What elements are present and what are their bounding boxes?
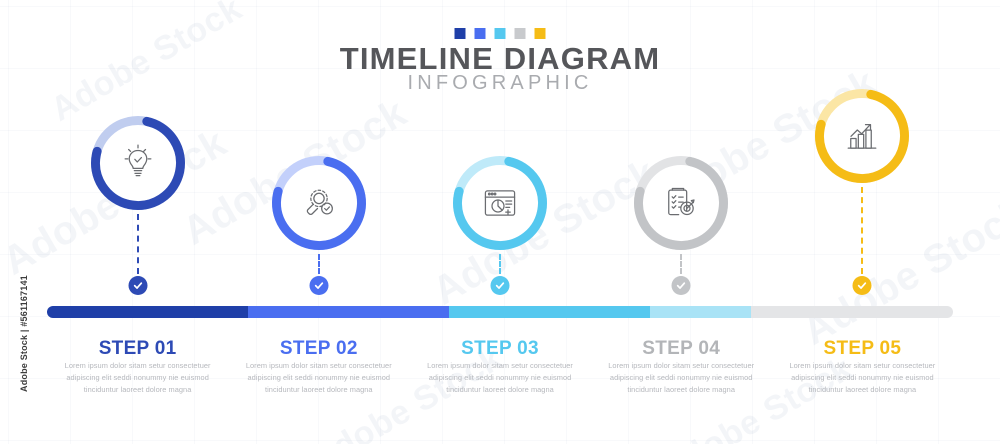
step-description-5: Lorem ipsum dolor sitam setur consectetu… bbox=[778, 360, 946, 397]
watermark-side-label: Adobe Stock | #561167141 bbox=[19, 282, 29, 392]
checklist-target-icon bbox=[661, 183, 701, 223]
step-connector-line-4 bbox=[680, 254, 682, 274]
lightbulb-check-icon bbox=[118, 143, 158, 183]
step-label-5: STEP 05 bbox=[769, 338, 955, 360]
timeline-step-4[interactable]: STEP 04 Lorem ipsum dolor sitam setur co… bbox=[588, 0, 774, 444]
infographic-canvas: Adobe Stock Adobe Stock Adobe Stock Adob… bbox=[0, 0, 1000, 444]
check-icon bbox=[495, 280, 506, 291]
step-icon-ring-1[interactable] bbox=[90, 115, 186, 211]
step-label-4: STEP 04 bbox=[588, 338, 774, 360]
step-description-1: Lorem ipsum dolor sitam setur consectetu… bbox=[54, 360, 222, 397]
step-icon-ring-4[interactable] bbox=[633, 155, 729, 251]
step-icon-ring-2[interactable] bbox=[271, 155, 367, 251]
step-label-3: STEP 03 bbox=[407, 338, 593, 360]
growth-bar-chart-icon bbox=[842, 116, 882, 156]
check-icon bbox=[132, 280, 143, 291]
step-icon-ring-3[interactable] bbox=[452, 155, 548, 251]
step-icon-ring-5[interactable] bbox=[814, 88, 910, 184]
step-check-badge-1[interactable] bbox=[128, 276, 147, 295]
step-check-badge-2[interactable] bbox=[309, 276, 328, 295]
timeline-step-2[interactable]: STEP 02 Lorem ipsum dolor sitam setur co… bbox=[226, 0, 412, 444]
magnifier-check-icon bbox=[299, 183, 339, 223]
check-icon bbox=[313, 280, 324, 291]
step-check-badge-5[interactable] bbox=[853, 276, 872, 295]
step-label-1: STEP 01 bbox=[45, 338, 231, 360]
step-label-2: STEP 02 bbox=[226, 338, 412, 360]
browser-chart-icon bbox=[480, 183, 520, 223]
timeline-step-1[interactable]: STEP 01 Lorem ipsum dolor sitam setur co… bbox=[45, 0, 231, 444]
step-description-3: Lorem ipsum dolor sitam setur consectetu… bbox=[416, 360, 584, 397]
step-check-badge-4[interactable] bbox=[672, 276, 691, 295]
step-check-badge-3[interactable] bbox=[491, 276, 510, 295]
step-connector-line-5 bbox=[861, 187, 863, 274]
step-description-4: Lorem ipsum dolor sitam setur consectetu… bbox=[597, 360, 765, 397]
check-icon bbox=[676, 280, 687, 291]
step-description-2: Lorem ipsum dolor sitam setur consectetu… bbox=[235, 360, 403, 397]
step-connector-line-3 bbox=[499, 254, 501, 274]
timeline-step-3[interactable]: STEP 03 Lorem ipsum dolor sitam setur co… bbox=[407, 0, 593, 444]
step-connector-line-2 bbox=[318, 254, 320, 274]
timeline-step-5[interactable]: STEP 05 Lorem ipsum dolor sitam setur co… bbox=[769, 0, 955, 444]
step-connector-line-1 bbox=[137, 214, 139, 274]
check-icon bbox=[857, 280, 868, 291]
